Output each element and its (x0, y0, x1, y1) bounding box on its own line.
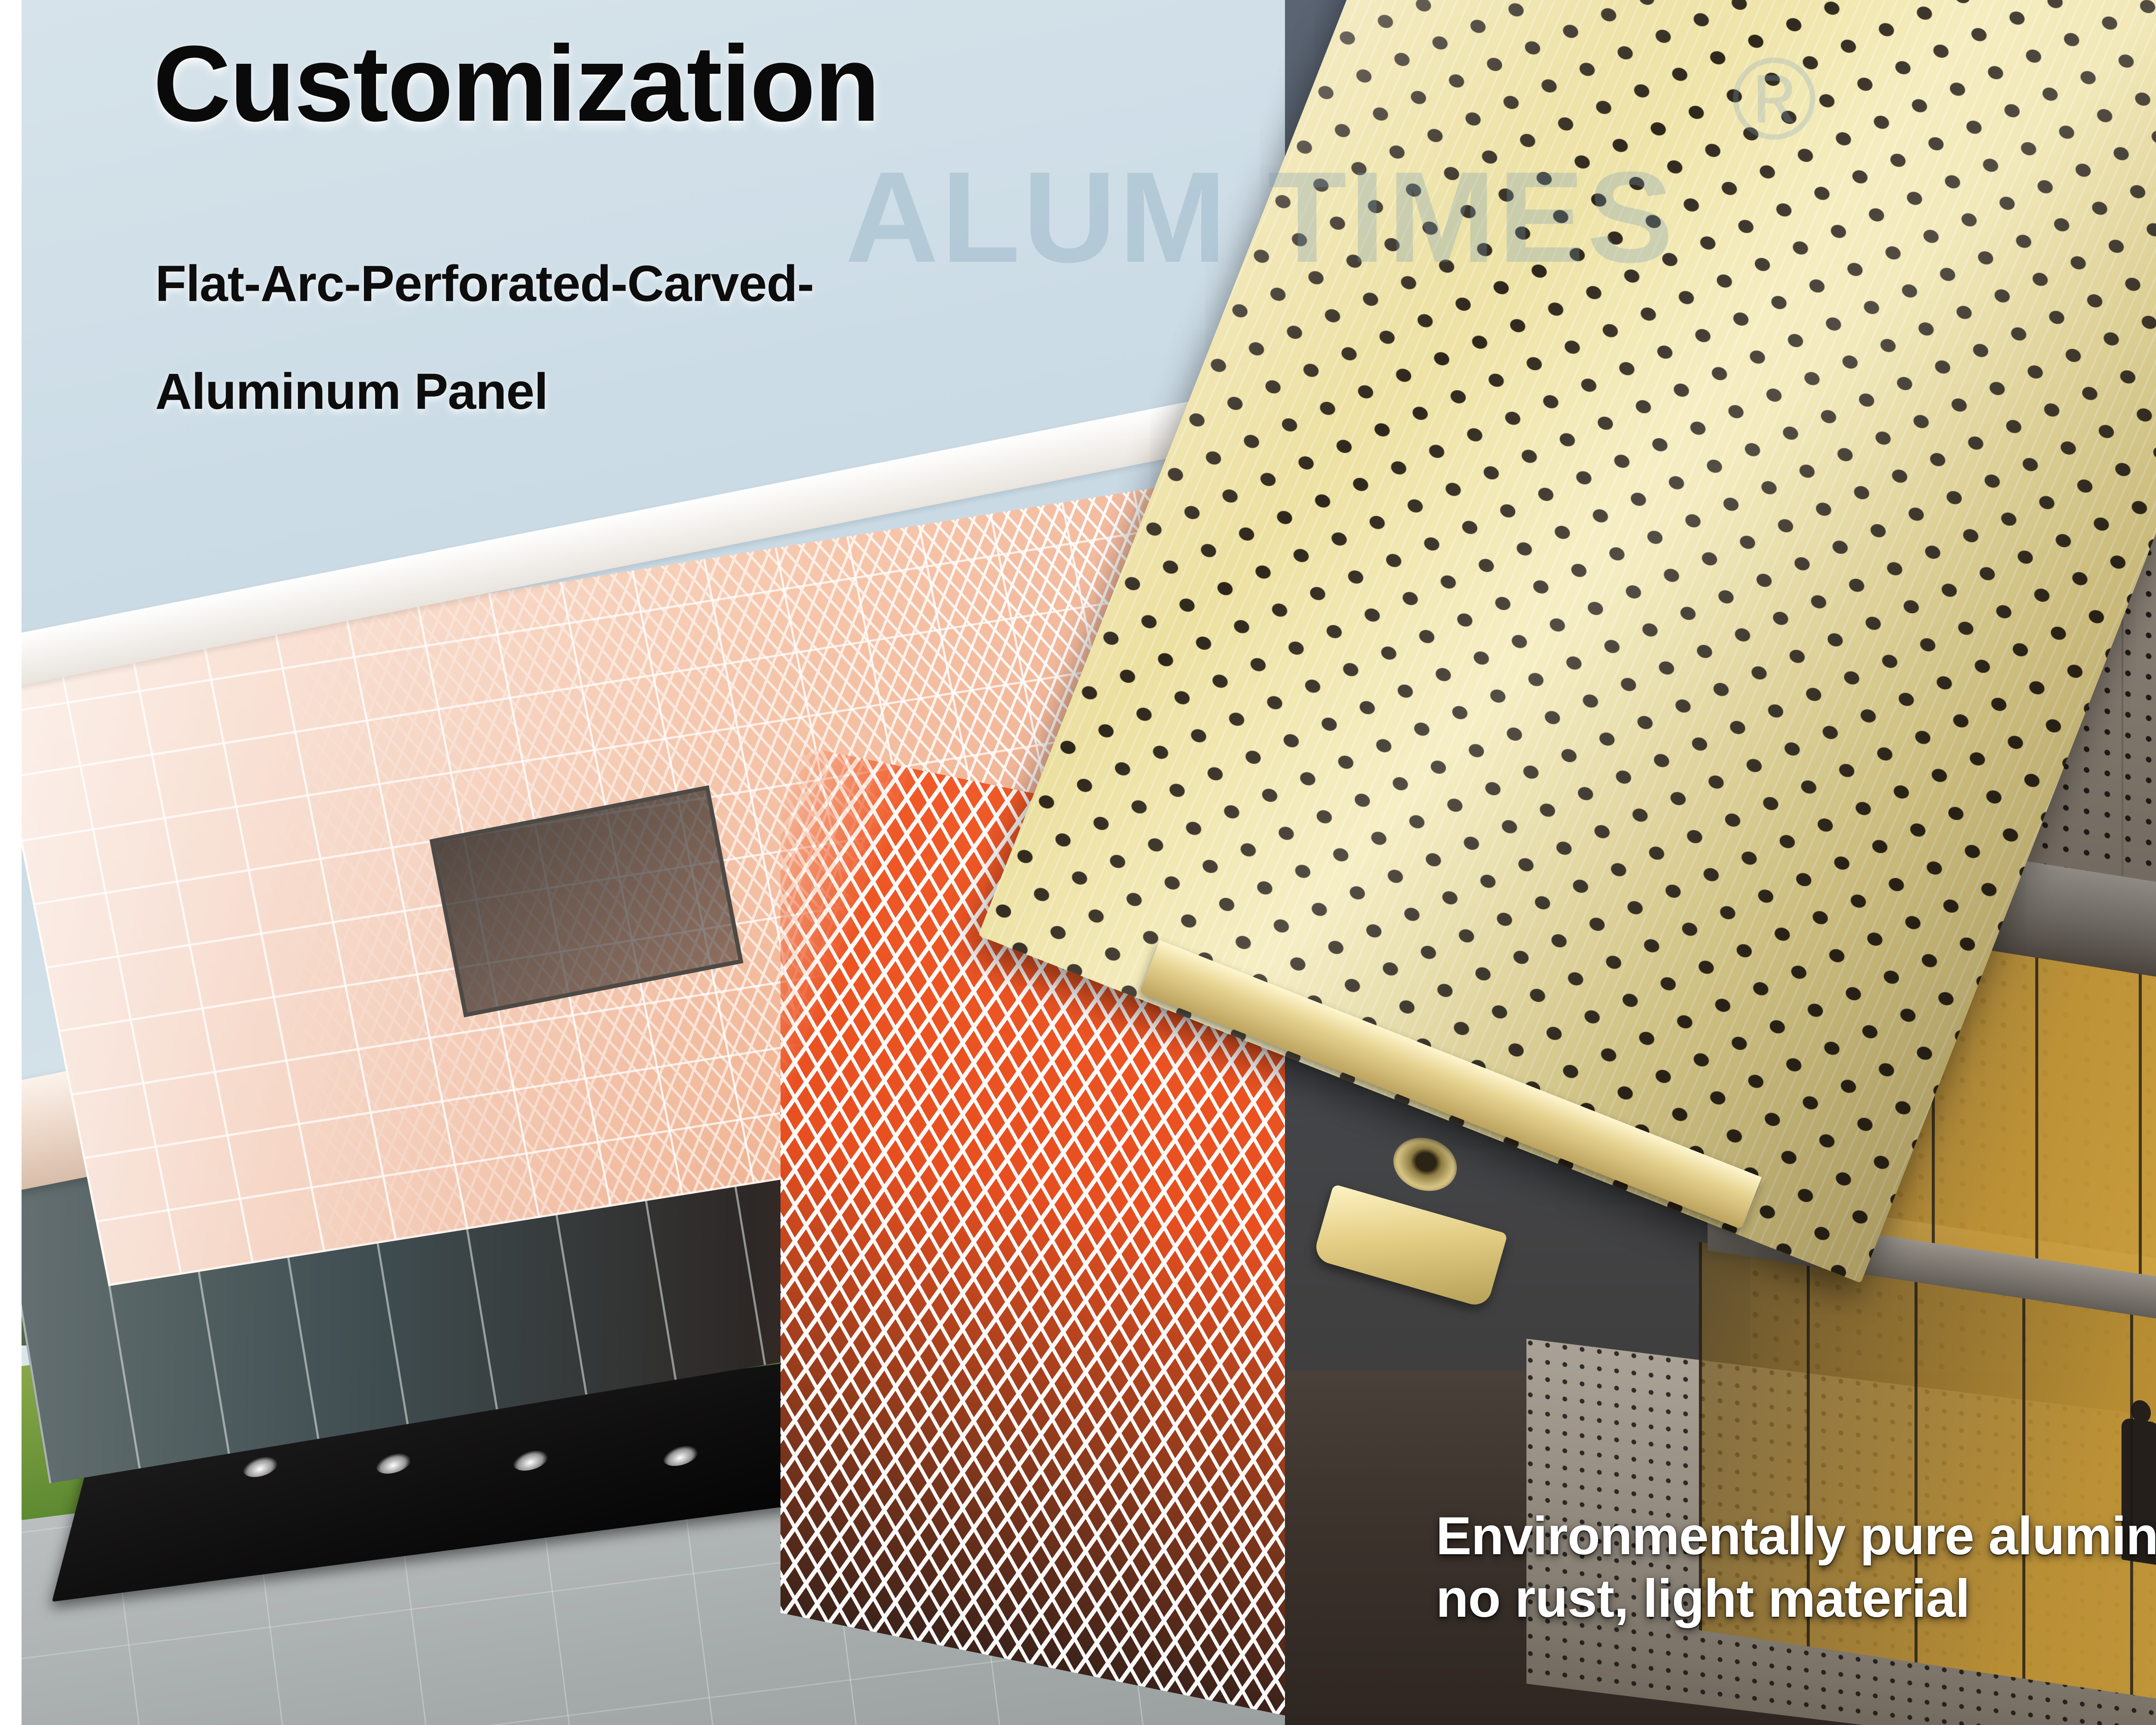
subtitle-line-two: Aluminum Panel (155, 362, 548, 421)
caption-line-two: no rust, light material (1436, 1568, 2156, 1630)
feature-caption: Environmentally pure aluminum, no rust, … (1436, 1505, 2156, 1630)
water-spray (374, 1452, 413, 1476)
page-title: Customization (153, 22, 879, 145)
water-spray (511, 1449, 550, 1473)
caption-line-one: Environmentally pure aluminum, (1436, 1505, 2156, 1568)
marketing-poster: ALUM TIMES ® Customization Flat-Arc-Perf… (0, 0, 2156, 1725)
subtitle-line-one: Flat-Arc-Perforated-Carved- (155, 254, 814, 313)
water-spray (241, 1455, 280, 1479)
person-head (2131, 1399, 2151, 1424)
water-spray (661, 1444, 700, 1468)
